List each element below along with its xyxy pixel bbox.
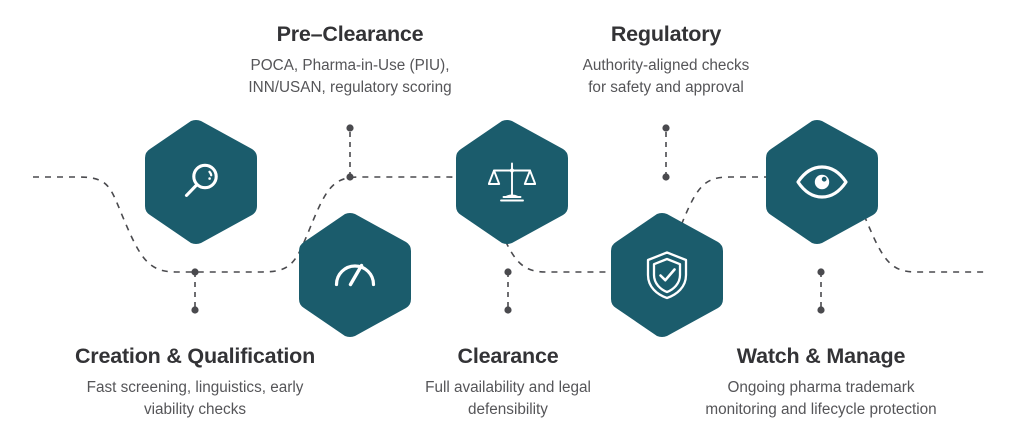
gauge-icon [296,211,414,339]
stem-clearance [504,268,511,313]
step-subtitle-line: Fast screening, linguistics, early [45,377,345,399]
step-subtitle-line: defensibility [388,399,628,421]
scales-icon [453,118,571,246]
stem-watch-manage [817,268,824,313]
step-title: Regulatory [546,22,786,48]
magnifier-icon [142,118,260,246]
node-shield-check[interactable] [608,211,726,339]
step-title: Watch & Manage [661,344,981,370]
eye-icon [763,118,881,246]
step-subtitle-line: for safety and approval [546,77,786,99]
infographic-canvas: Pre–Clearance POCA, Pharma-in-Use (PIU),… [0,0,1024,444]
step-subtitle: Authority-aligned checks for safety and … [546,55,786,98]
step-title: Creation & Qualification [45,344,345,370]
shield-check-icon [608,211,726,339]
node-eye[interactable] [763,118,881,246]
step-subtitle-line: monitoring and lifecycle protection [661,399,981,421]
stem-pre-clearance [346,124,353,180]
step-subtitle: Ongoing pharma trademark monitoring and … [661,377,981,420]
step-subtitle: POCA, Pharma-in-Use (PIU), INN/USAN, reg… [200,55,500,98]
stem-regulatory [662,124,669,180]
step-title: Clearance [388,344,628,370]
caption-watch-manage: Watch & Manage Ongoing pharma trademark … [661,344,981,420]
caption-clearance: Clearance Full availability and legal de… [388,344,628,420]
caption-pre-clearance: Pre–Clearance POCA, Pharma-in-Use (PIU),… [200,22,500,98]
step-subtitle-line: viability checks [45,399,345,421]
node-scales[interactable] [453,118,571,246]
node-gauge[interactable] [296,211,414,339]
caption-regulatory: Regulatory Authority-aligned checks for … [546,22,786,98]
step-subtitle-line: POCA, Pharma-in-Use (PIU), [200,55,500,77]
step-subtitle-line: Full availability and legal [388,377,628,399]
caption-creation-qualification: Creation & Qualification Fast screening,… [45,344,345,420]
node-magnifier[interactable] [142,118,260,246]
step-subtitle-line: INN/USAN, regulatory scoring [200,77,500,99]
step-subtitle-line: Authority-aligned checks [546,55,786,77]
stem-creation-qualification [191,268,198,313]
step-title: Pre–Clearance [200,22,500,48]
step-subtitle: Fast screening, linguistics, early viabi… [45,377,345,420]
step-subtitle-line: Ongoing pharma trademark [661,377,981,399]
step-subtitle: Full availability and legal defensibilit… [388,377,628,420]
